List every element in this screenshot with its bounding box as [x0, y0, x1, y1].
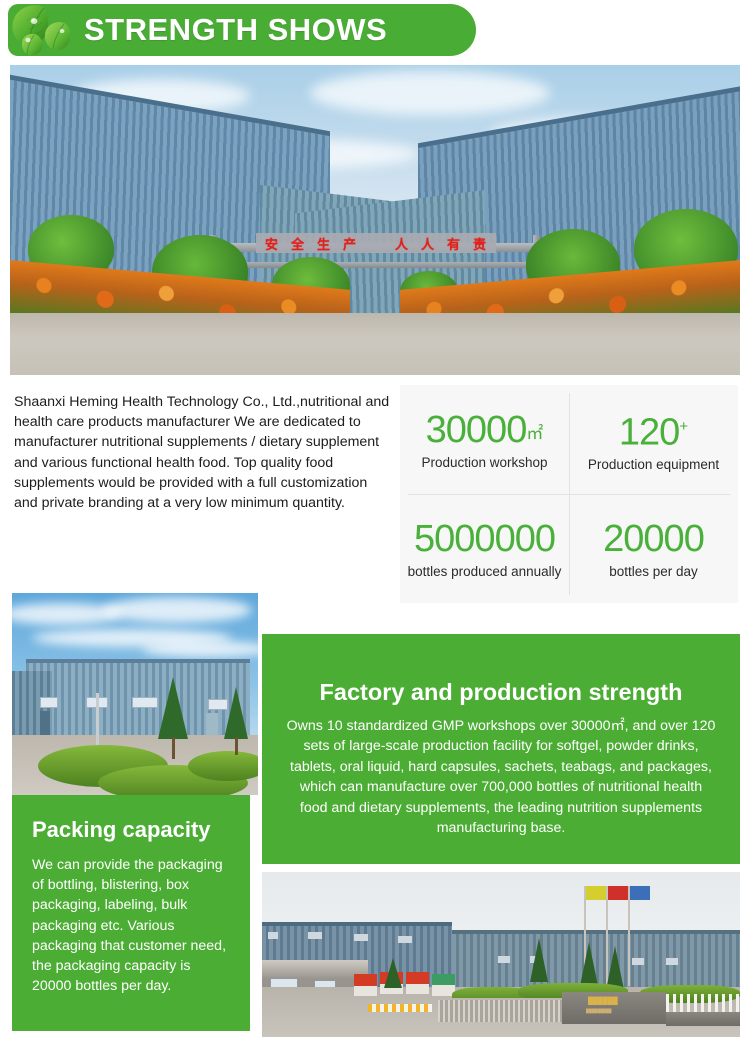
conifer-tree — [580, 942, 598, 986]
window — [268, 932, 278, 939]
flag-pole — [628, 886, 630, 986]
boom-barrier — [368, 1002, 432, 1012]
factory-strength-title: Factory and production strength — [262, 678, 740, 706]
sign-char: 全 — [291, 234, 305, 253]
company-intro-text: Shaanxi Heming Health Technology Co., Lt… — [14, 392, 392, 513]
sign-char: 人 — [421, 234, 435, 253]
window — [132, 697, 158, 708]
sign-char: 人 — [395, 234, 409, 253]
tree-trunk — [235, 737, 238, 755]
stat-value: 5000000 — [414, 518, 555, 560]
conifer-tree — [530, 938, 548, 982]
stat-label: bottles produced annually — [408, 563, 562, 580]
stat-number: 30000 — [426, 409, 527, 451]
page-title: STRENGTH SHOWS — [84, 12, 387, 48]
stats-grid: 30000㎡ Production workshop 120+ Producti… — [400, 385, 738, 603]
stat-card-production-equipment: 120+ Production equipment — [569, 385, 738, 494]
stat-label: Production workshop — [421, 454, 547, 471]
stat-number: 120 — [619, 411, 679, 453]
flag-yellow — [586, 886, 606, 900]
stat-value: 120+ — [619, 406, 688, 454]
factory-gate-photo: ██████ █████████ — [262, 872, 740, 1037]
stat-label: Production equipment — [588, 456, 719, 473]
safety-slogan-sign: 安 全 生 产 人 人 有 责 — [256, 233, 496, 253]
window — [40, 697, 58, 708]
conifer-tree — [158, 677, 188, 739]
delivery-truck — [354, 974, 377, 996]
window — [354, 934, 368, 941]
strength-shows-page: STRENGTH SHOWS 安 全 生 产 — [0, 0, 750, 1044]
sign-char: 有 — [447, 234, 461, 253]
conifer-tree — [384, 958, 402, 988]
window — [398, 936, 412, 943]
sign-char: 产 — [343, 234, 357, 253]
sign-char: 责 — [473, 234, 487, 253]
packing-capacity-body: We can provide the packaging of bottling… — [32, 855, 232, 996]
stat-card-bottles-annually: 5000000 bottles produced annually — [400, 494, 569, 603]
page-header: STRENGTH SHOWS — [0, 0, 750, 64]
stat-number: 20000 — [603, 518, 704, 560]
packing-capacity-title: Packing capacity — [32, 817, 232, 843]
stat-unit: + — [679, 418, 688, 435]
flag-blue — [630, 886, 650, 900]
flag-red — [608, 886, 628, 900]
cloud-shape — [102, 597, 252, 623]
stat-unit: ㎡ — [526, 424, 543, 443]
light-pole — [96, 693, 99, 745]
factory-strength-body: Owns 10 standardized GMP workshops over … — [262, 716, 740, 838]
packing-capacity-panel: Packing capacity We can provide the pack… — [12, 795, 250, 1031]
leaf-icon — [4, 0, 88, 60]
stat-number: 5000000 — [414, 518, 555, 560]
factory-strength-panel: Factory and production strength Owns 10 … — [262, 634, 740, 864]
window — [308, 932, 322, 939]
stat-label: bottles per day — [609, 563, 698, 580]
window — [632, 958, 644, 965]
company-name-subtext: █████████ — [586, 1008, 612, 1013]
fence-base-wall — [666, 1012, 740, 1026]
window — [498, 956, 510, 963]
tree-trunk — [172, 737, 175, 759]
cloud-shape — [310, 71, 550, 115]
gantry-beam-lower — [210, 262, 540, 268]
sign-char: 安 — [265, 234, 279, 253]
stat-card-production-workshop: 30000㎡ Production workshop — [400, 385, 569, 494]
factory-entrance-photo: 安 全 生 产 人 人 有 责 — [10, 65, 740, 375]
company-name-plaque: ██████ — [588, 998, 618, 1005]
company-emblem-icon — [568, 996, 584, 1012]
conifer-tree — [224, 687, 248, 739]
stat-card-bottles-per-day: 20000 bottles per day — [569, 494, 738, 603]
delivery-truck — [406, 972, 429, 994]
entrance-gantry: 安 全 生 产 人 人 有 责 — [210, 215, 540, 273]
retractable-gate — [438, 998, 562, 1022]
window — [666, 958, 678, 965]
sign-char: 生 — [317, 234, 331, 253]
stat-value: 20000 — [603, 518, 704, 560]
lawn-hedge — [188, 751, 258, 781]
driveway — [10, 313, 740, 375]
stat-value: 30000㎡ — [426, 409, 544, 451]
workshop-exterior-photo — [12, 593, 258, 795]
